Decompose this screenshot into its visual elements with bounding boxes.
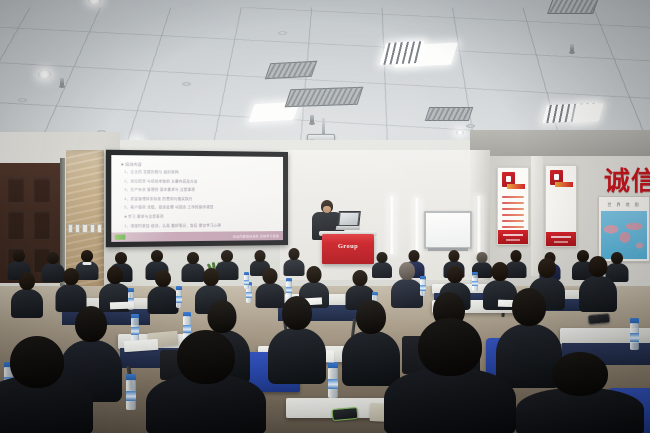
wall-poster-left [497,167,529,245]
attendee-head [289,248,300,260]
presenter-laptop-base [336,226,361,230]
attendee-head [19,272,35,290]
wall-poster-right [545,165,577,247]
attendee-shoulders [372,262,392,278]
water-bottle[interactable] [630,318,639,350]
wall-light-strip [476,196,482,252]
slide-bullet: 1、请按时参加 培训，认真 做好笔记，会后 提交学习心得 [124,224,275,229]
attendee [388,318,512,433]
attendee-head [589,256,608,277]
slide-heading: ■ 培训内容 [121,162,142,167]
ceiling-downlight [456,130,464,135]
attendee-head [203,268,219,286]
slide-logo-icon [115,234,126,239]
attendee-head [356,300,386,334]
light-switch[interactable] [68,224,73,233]
ceiling-panel-light [572,103,603,122]
wall-slogan-text: 诚信 [604,168,650,194]
attendee-head [538,258,556,278]
attendee [270,296,324,384]
ceiling-air-vent [547,0,599,14]
slide-bullet: 4、质量管理体系标准 的贯彻与落实执行 [124,198,275,202]
smoke-detector [278,31,287,35]
wall-light-strip [389,196,395,254]
water-bottle[interactable] [472,272,478,291]
attendee-shoulders [268,328,326,384]
attendee-head [208,300,237,333]
water-bottle[interactable] [286,278,292,298]
attendee-head [255,250,266,262]
slide-bullet: 5、客户服务 流程、投诉处理 与回访 工作的操作规范 [124,206,275,210]
attendee [372,252,392,278]
attendee-head [307,266,322,283]
light-switch[interactable] [97,224,102,233]
attendee-head [409,250,420,262]
attendee-head [552,352,608,396]
attendee-head [377,252,388,263]
fire-sprinkler [570,44,574,52]
attendee-head [511,250,522,262]
light-switch[interactable] [90,224,95,233]
attendee-head [177,330,235,384]
slide-footer-bar: 企业内部培训资料 仅供学习使用 [111,231,283,242]
attendee-shoulders [579,276,617,312]
attendee-head [155,270,171,287]
whiteboard[interactable] [424,211,472,249]
slide-bullet-list: 1、企业的 发展历程与 组织架构 2、岗位职责 与绩效考核的 主要内容及方法 3… [124,171,275,234]
attendee [150,330,262,433]
attendee-shoulders [384,368,516,433]
attendee-head [115,252,127,264]
ceiling-air-vent [425,107,474,121]
door-panel [7,210,25,240]
podium-logo-text: Group [322,243,374,250]
water-bottle[interactable] [244,272,249,289]
poster-footer [546,232,576,246]
attendee-head [151,250,163,262]
smoke-detector [466,124,475,128]
projected-slide: ■ 培训内容 1、企业的 发展历程与 组织架构 2、岗位职责 与绩效考核的 主要… [111,155,283,242]
attendee-collar [83,262,92,265]
wall-light-strip [414,198,420,252]
attendee [12,272,42,318]
attendee-head [81,250,93,262]
wall-soffit [470,130,650,156]
water-bottle[interactable] [131,314,139,342]
poster-ribbon-icon [555,182,573,187]
attendee-shoulders [148,286,179,314]
attendee-head [63,268,79,285]
water-bottle[interactable] [328,362,338,398]
attendee-head [187,252,199,264]
attendee-head [449,250,460,262]
ceiling-downlight [38,70,51,79]
conference-room-photo: 诚信 世 界 地 图 ■ 培训内容 1、企业的 发展历程与 组织架构 2、岗位职… [0,0,650,433]
light-switch[interactable] [82,224,87,233]
projector-screen: ■ 培训内容 1、企业的 发展历程与 组织架构 2、岗位职责 与绩效考核的 主要… [106,150,288,248]
attendee-head [512,288,546,326]
smoke-detector [182,82,191,86]
ceiling-air-vent [265,61,318,79]
light-switch-panel[interactable] [68,224,102,233]
attendee-head [107,266,123,284]
presenter-face [323,206,331,213]
attendee-head [263,268,278,284]
attendee [0,336,90,433]
slide-bullet: 1、企业的 发展历程与 组织架构 [124,171,275,175]
presenter-laptop[interactable] [337,211,361,227]
attendee-head [447,266,463,283]
attendee-head [353,270,368,286]
water-bottle[interactable] [176,286,182,308]
smoke-detector [18,98,27,102]
attendee-head [399,262,415,280]
fire-sprinkler [60,78,64,86]
attendee [148,270,178,314]
poster-ribbon-icon [507,184,525,189]
attendee [580,256,616,312]
door-panel [33,210,51,240]
door-panel [7,177,25,203]
slide-bullet: 2、岗位职责 与绩效考核的 主要内容及方法 [124,180,275,184]
ceiling-panel-light [379,41,425,65]
attendee-shoulders [11,289,43,318]
smartphone[interactable] [588,313,611,325]
light-switch[interactable] [75,224,80,233]
poster-footer [498,230,528,244]
map-poster-title: 世 界 地 图 [599,202,649,208]
attendee-head [10,336,64,388]
smartphone[interactable] [332,407,359,421]
slide-footer-text: 企业内部培训资料 仅供学习使用 [233,234,279,238]
slide-bullet: ■ 学习 要求与注意事项 [124,215,275,219]
attendee-head [221,250,233,262]
attendee-head [492,262,509,281]
speaker-podium: Group [322,234,374,264]
water-bottle[interactable] [126,374,136,410]
attendee-head [13,250,25,262]
slide-bullet: 3、生产安全 管理的 基本要求与 注意事项 [124,189,275,193]
fire-sprinkler [310,115,314,123]
attendee [520,352,640,433]
attendee-head [47,252,59,264]
door-panel [33,177,51,203]
attendee-head [282,296,312,330]
attendee-head [418,318,482,376]
ceiling-air-vent [285,87,364,108]
